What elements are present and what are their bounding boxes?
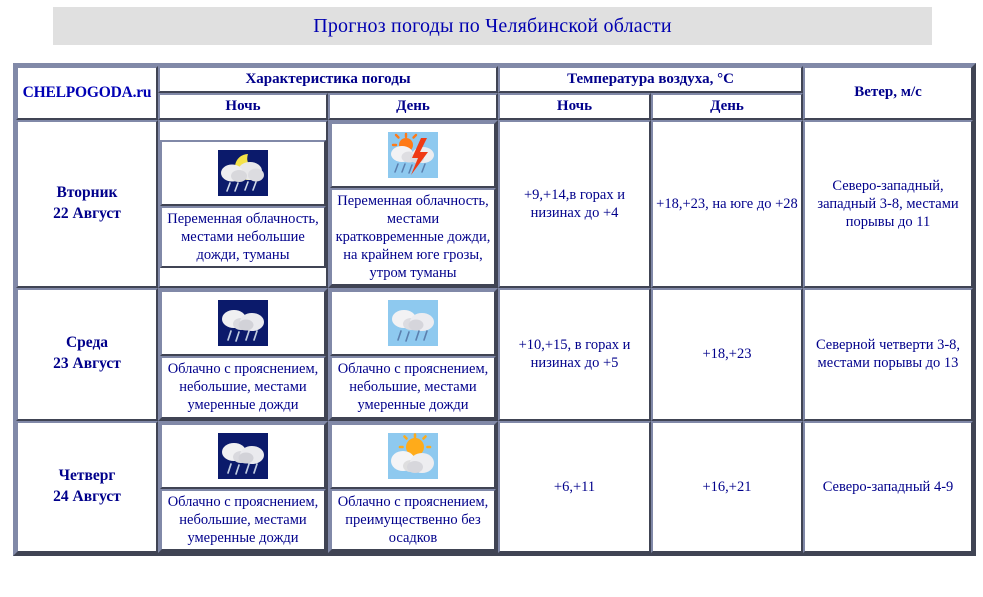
table-row: Четверг 24 Август — [16, 421, 973, 553]
wind-cell: Северной четверти 3-8, местами порывы до… — [803, 288, 973, 420]
temp-night-cell: +9,+14,в горах и низинах до +4 — [498, 120, 651, 289]
temp-day-cell: +18,+23, на юге до +28 — [651, 120, 803, 289]
header-row-groups: CHELPOGODA.ru Характеристика погоды Темп… — [16, 66, 973, 93]
row-day-cell: Среда 23 Август — [16, 288, 158, 420]
night-clouds-rain-icon — [218, 433, 268, 479]
temp-night-cell: +6,+11 — [498, 421, 651, 553]
page-title: Прогноз погоды по Челябинской области — [313, 15, 672, 38]
night-weather-cell: Облачно с прояснением, небольшие, местам… — [158, 288, 328, 420]
table-body: Вторник 22 Август — [16, 120, 973, 553]
day-icon-cell — [330, 290, 496, 356]
temp-night-cell: +10,+15, в горах и низинах до +5 — [498, 288, 651, 420]
moon-clouds-rain-icon — [218, 150, 268, 196]
day-weather-cell: Облачно с прояснением, небольшие, местам… — [328, 288, 498, 420]
day-weather-cell: Облачно с прояснением, преимущественно б… — [328, 421, 498, 553]
day-description: Переменная облачность, местами кратковре… — [330, 188, 496, 287]
day-weather-cell: Переменная облачность, местами кратковре… — [328, 120, 498, 289]
day-date: 23 Август — [21, 354, 153, 375]
brand-label: CHELPOGODA.ru — [23, 84, 152, 101]
wind-cell: Северо-западный 4-9 — [803, 421, 973, 553]
temp-day-cell: +16,+21 — [651, 421, 803, 553]
night-clouds-rain-icon — [218, 300, 268, 346]
wind-cell: Северо-западный, западный 3-8, местами п… — [803, 120, 973, 289]
night-description: Переменная облачность, местами небольшие… — [160, 206, 326, 268]
day-icon-cell — [330, 423, 496, 489]
day-description: Облачно с прояснением, небольшие, местам… — [330, 356, 496, 418]
night-icon-cell — [160, 140, 326, 206]
day-weather-inner: Облачно с прояснением, преимущественно б… — [330, 423, 496, 551]
header-temperature-group: Температура воздуха, °C — [498, 66, 803, 93]
day-icon-cell — [330, 122, 496, 188]
day-clouds-rain-icon — [388, 300, 438, 346]
header-wind-group: Ветер, м/с — [803, 66, 973, 120]
night-icon-cell — [160, 290, 326, 356]
header-weather-group: Характеристика погоды — [158, 66, 498, 93]
night-description: Облачно с прояснением, небольшие, местам… — [160, 356, 326, 418]
day-date: 22 Август — [21, 204, 153, 225]
sun-clouds-thunderstorm-rain-icon — [388, 132, 438, 178]
header-temp-day: День — [651, 93, 803, 120]
table-row: Вторник 22 Август — [16, 120, 973, 289]
day-name: Вторник — [21, 183, 153, 204]
header-temp-night: Ночь — [498, 93, 651, 120]
row-day-cell: Вторник 22 Август — [16, 120, 158, 289]
night-icon-cell — [160, 423, 326, 489]
header-weather-night: Ночь — [158, 93, 328, 120]
day-weather-inner: Облачно с прояснением, небольшие, местам… — [330, 290, 496, 418]
table-row: Среда 23 Август — [16, 288, 973, 420]
night-description: Облачно с прояснением, небольшие, местам… — [160, 489, 326, 551]
sun-behind-clouds-icon — [388, 433, 438, 479]
day-name: Среда — [21, 333, 153, 354]
page-title-band: Прогноз погоды по Челябинской области — [53, 7, 932, 45]
row-day-cell: Четверг 24 Август — [16, 421, 158, 553]
day-weather-inner: Переменная облачность, местами кратковре… — [330, 122, 496, 287]
temp-day-cell: +18,+23 — [651, 288, 803, 420]
day-date: 24 Август — [21, 487, 153, 508]
header-weather-day: День — [328, 93, 498, 120]
day-name: Четверг — [21, 466, 153, 487]
day-description: Облачно с прояснением, преимущественно б… — [330, 489, 496, 551]
night-weather-inner: Облачно с прояснением, небольшие, местам… — [160, 290, 326, 418]
weather-forecast-table: CHELPOGODA.ru Характеристика погоды Темп… — [13, 63, 976, 556]
night-weather-cell: Переменная облачность, местами небольшие… — [158, 120, 328, 289]
brand-cell: CHELPOGODA.ru — [16, 66, 158, 120]
table-header: CHELPOGODA.ru Характеристика погоды Темп… — [16, 66, 973, 120]
night-weather-cell: Облачно с прояснением, небольшие, местам… — [158, 421, 328, 553]
night-weather-inner: Облачно с прояснением, небольшие, местам… — [160, 423, 326, 551]
night-weather-inner: Переменная облачность, местами небольшие… — [160, 140, 326, 268]
